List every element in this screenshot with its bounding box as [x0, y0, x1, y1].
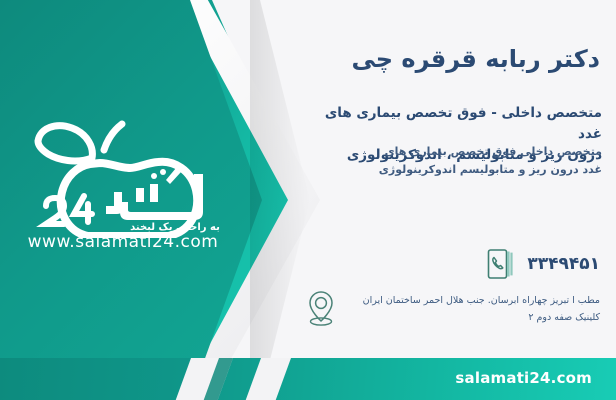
brand-logo: www.salamati24.com	[18, 110, 228, 270]
salamati24-apple-logo-icon	[18, 110, 228, 238]
phone-number[interactable]: ۳۳۴۹۴۵۱	[527, 254, 600, 274]
doctor-profile-card: www.salamati24.com به راحتی یک لبخند دکت…	[0, 0, 616, 400]
specialty-line-1: متخصص داخلی - فوق تخصص بیماری های غدد	[306, 103, 602, 145]
specialty-sub-1: متخصص داخلی فوق تخصص بیماری های	[306, 143, 602, 161]
footer-website[interactable]: salamati24.com	[455, 369, 592, 387]
footer-stripe-right	[243, 358, 293, 400]
map-pin-icon	[306, 290, 336, 328]
info-panel: دکتر ربابه قرقره چی متخصص داخلی - فوق تخ…	[290, 0, 616, 400]
address-line-1: مطب ا تبریز چهاراه ابرسان. جنب هلال احمر…	[348, 292, 600, 309]
doctor-specialty-secondary: متخصص داخلی فوق تخصص بیماری های غدد درون…	[306, 143, 602, 178]
address-text: مطب ا تبریز چهاراه ابرسان. جنب هلال احمر…	[348, 288, 600, 326]
phone-book-icon	[487, 248, 515, 280]
doctor-name: دکتر ربابه قرقره چی	[306, 44, 600, 74]
address-row[interactable]: مطب ا تبریز چهاراه ابرسان. جنب هلال احمر…	[306, 288, 600, 328]
brand-slogan: به راحتی یک لبخند	[120, 222, 230, 233]
specialty-sub-2: غدد درون ریز و متابولیسم اندوکرینولوژی	[306, 161, 602, 179]
phone-row[interactable]: ۳۳۴۹۴۵۱	[487, 248, 600, 280]
footer-bar: salamati24.com	[0, 358, 616, 400]
logo-website-text: www.salamati24.com	[18, 232, 228, 252]
address-line-2: کلینیک صفه دوم ۲	[348, 309, 600, 326]
